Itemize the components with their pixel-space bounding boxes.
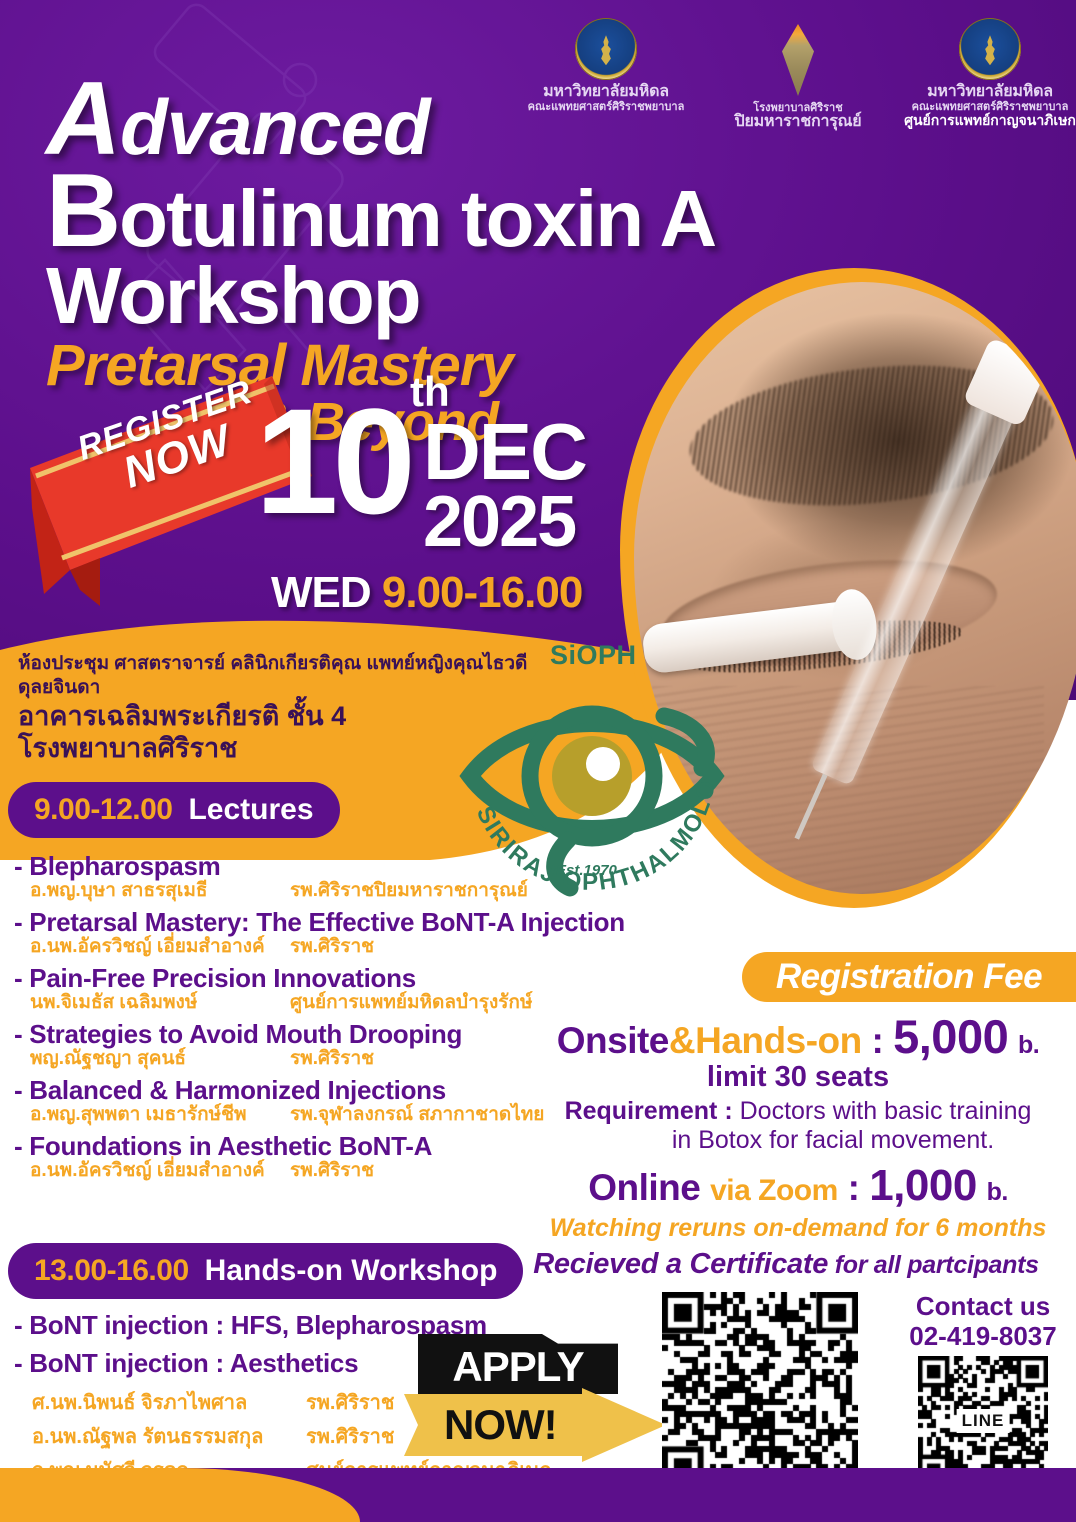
mahidol-crest-icon: [959, 18, 1021, 80]
lecture-meta: อ.นพ.อัครวิชญ์ เอี่ยมสำอางค์ รพ.ศิริราช: [30, 937, 714, 958]
online-label-a: Online: [588, 1167, 700, 1208]
lecture-speaker: นพ.จิเมธัส เฉลิมพงษ์: [30, 993, 280, 1014]
onsite-label-b: &Hands-on: [669, 1020, 862, 1061]
registration-fee-body: Onsite&Hands-on : 5,000 b. limit 30 seat…: [520, 1012, 1076, 1243]
date-year: 2025: [423, 490, 575, 555]
lecture-meta: นพ.จิเมธัส เฉลิมพงษ์ ศูนย์การแพทย์มหิดลบ…: [30, 993, 714, 1014]
handson-label: Hands-on Workshop: [205, 1254, 498, 1288]
lecture-affiliation: รพ.ศิริราช: [290, 1161, 374, 1182]
lecture-affiliation: ศูนย์การแพทย์มหิดลบำรุงรักษ์: [290, 993, 532, 1014]
registration-fee-pill: Registration Fee: [742, 952, 1076, 1002]
apply-line-1: APPLY: [452, 1343, 583, 1391]
date-weekday-time: WED 9.00-16.00: [271, 568, 582, 618]
poster-root: มหาวิทยาลัยมหิดล คณะแพทยศาสตร์ศิริราชพยา…: [0, 0, 1076, 1522]
requirement-label: Requirement :: [565, 1097, 740, 1125]
online-colon: :: [838, 1167, 869, 1208]
venue-line-1: ห้องประชุม ศาสตราจารย์ คลินิกเกียรติคุณ …: [18, 652, 538, 700]
title-line2-rest: otulinum toxin A Workshop: [46, 174, 712, 341]
lecture-affiliation: รพ.ศิริราช: [290, 937, 374, 958]
online-price: 1,000: [869, 1161, 977, 1210]
apply-now-button[interactable]: APPLY NOW!: [404, 1334, 666, 1462]
date-day: 10: [255, 400, 410, 523]
requirement-body: Doctors with basic training: [740, 1097, 1032, 1125]
handson-staff-name: ศ.นพ.นิพนธ์ จิรภาไพศาล: [32, 1386, 294, 1418]
handson-staff-name: อ.นพ.ณัฐพล รัตนธรรมสกุล: [32, 1420, 294, 1452]
contact-phone[interactable]: 02-419-8037: [890, 1322, 1076, 1352]
lecture-speaker: อ.พญ.บุษา สาธรสุเมธี: [30, 881, 280, 902]
lecture-affiliation: รพ.จุฬาลงกรณ์ สภากาชาดไทย: [290, 1105, 544, 1126]
apply-top-tag: APPLY: [418, 1334, 618, 1394]
lecture-title: - Pretarsal Mastery: The Effective BoNT-…: [14, 908, 714, 937]
registration-qr-code[interactable]: [662, 1292, 858, 1488]
title-line-1: Advanced: [46, 72, 1056, 168]
onsite-colon: :: [862, 1020, 893, 1061]
certificate-rest: for all partcipants: [828, 1251, 1039, 1279]
online-unit: b.: [987, 1178, 1008, 1206]
lecture-affiliation: รพ.ศิริราชปิยมหาราชการุณย์: [290, 881, 528, 902]
handson-staff-affiliation: รพ.ศิริราช: [306, 1386, 394, 1418]
lecture-speaker: อ.นพ.อัครวิชญ์ เอี่ยมสำอางค์: [30, 1161, 280, 1182]
onsite-label-a: Onsite: [557, 1020, 669, 1061]
lecture-title: - Blepharospasm: [14, 852, 714, 881]
lecture-affiliation: รพ.ศิริราช: [290, 1049, 374, 1070]
requirement-body-2: in Botox for facial movement.: [520, 1126, 1076, 1156]
handson-time: 13.00-16.00: [34, 1254, 189, 1288]
lecture-item: - Blepharospasm อ.พญ.บุษา สาธรสุเมธี รพ.…: [14, 852, 714, 902]
venue-line-3: โรงพยาบาลศิริราช: [18, 732, 538, 765]
lecture-meta: อ.พญ.บุษา สาธรสุเมธี รพ.ศิริราชปิยมหาราช…: [30, 881, 714, 902]
lecture-item: - Pain-Free Precision Innovations นพ.จิเ…: [14, 964, 714, 1014]
lecture-speaker: อ.พญ.สุพพตา เมธารักษ์ชีพ: [30, 1105, 280, 1126]
contact-label: Contact us: [890, 1292, 1076, 1322]
apply-line-2: NOW!: [444, 1401, 557, 1449]
handson-section-pill: 13.00-16.00 Hands-on Workshop: [8, 1243, 523, 1299]
date-hours: 9.00-16.00: [382, 568, 582, 617]
online-fee-line: Online via Zoom : 1,000 b.: [520, 1162, 1076, 1210]
date-month: DEC: [423, 416, 586, 488]
event-date-block: th 10 DEC 2025 WED 9.00-16.00: [255, 368, 675, 618]
lectures-label: Lectures: [188, 793, 313, 827]
online-label-b: via Zoom: [710, 1174, 838, 1207]
lecture-speaker: พญ.ณัฐชญา สุคนธ์: [30, 1049, 280, 1070]
date-weekday: WED: [271, 568, 371, 617]
requirement-text: Requirement : Doctors with basic trainin…: [520, 1097, 1076, 1156]
venue-line-2: อาคารเฉลิมพระเกียรติ ชั้น 4: [18, 700, 538, 733]
onsite-unit: b.: [1018, 1031, 1039, 1059]
lecture-title: - Pain-Free Precision Innovations: [14, 964, 714, 993]
venue-block: ห้องประชุม ศาสตราจารย์ คลินิกเกียรติคุณ …: [18, 652, 538, 765]
lectures-time: 9.00-12.00: [34, 793, 172, 827]
line-qr-code[interactable]: LINE: [918, 1356, 1048, 1486]
title-line1-rest: dvanced: [120, 83, 429, 171]
line-badge-label: LINE: [957, 1409, 1010, 1433]
onsite-fee-line: Onsite&Hands-on : 5,000 b.: [520, 1012, 1076, 1061]
lecture-speaker: อ.นพ.อัครวิชญ์ เอี่ยมสำอางค์: [30, 937, 280, 958]
certificate-strong: Recieved a Certificate: [533, 1248, 828, 1280]
lecture-item: - Pretarsal Mastery: The Effective BoNT-…: [14, 908, 714, 958]
apply-arrow-shape: NOW!: [404, 1388, 666, 1462]
online-rerun-note: Watching reruns on-demand for 6 months: [520, 1214, 1076, 1243]
certificate-note: Recieved a Certificate for all partcipan…: [496, 1248, 1076, 1281]
registration-fee-heading: Registration Fee: [776, 957, 1042, 997]
mahidol-crest-icon: [575, 18, 637, 80]
handson-staff-affiliation: รพ.ศิริราช: [306, 1420, 394, 1452]
onsite-seat-limit: limit 30 seats: [520, 1061, 1076, 1094]
lectures-section-pill: 9.00-12.00 Lectures: [8, 782, 340, 838]
onsite-price: 5,000: [893, 1010, 1008, 1063]
